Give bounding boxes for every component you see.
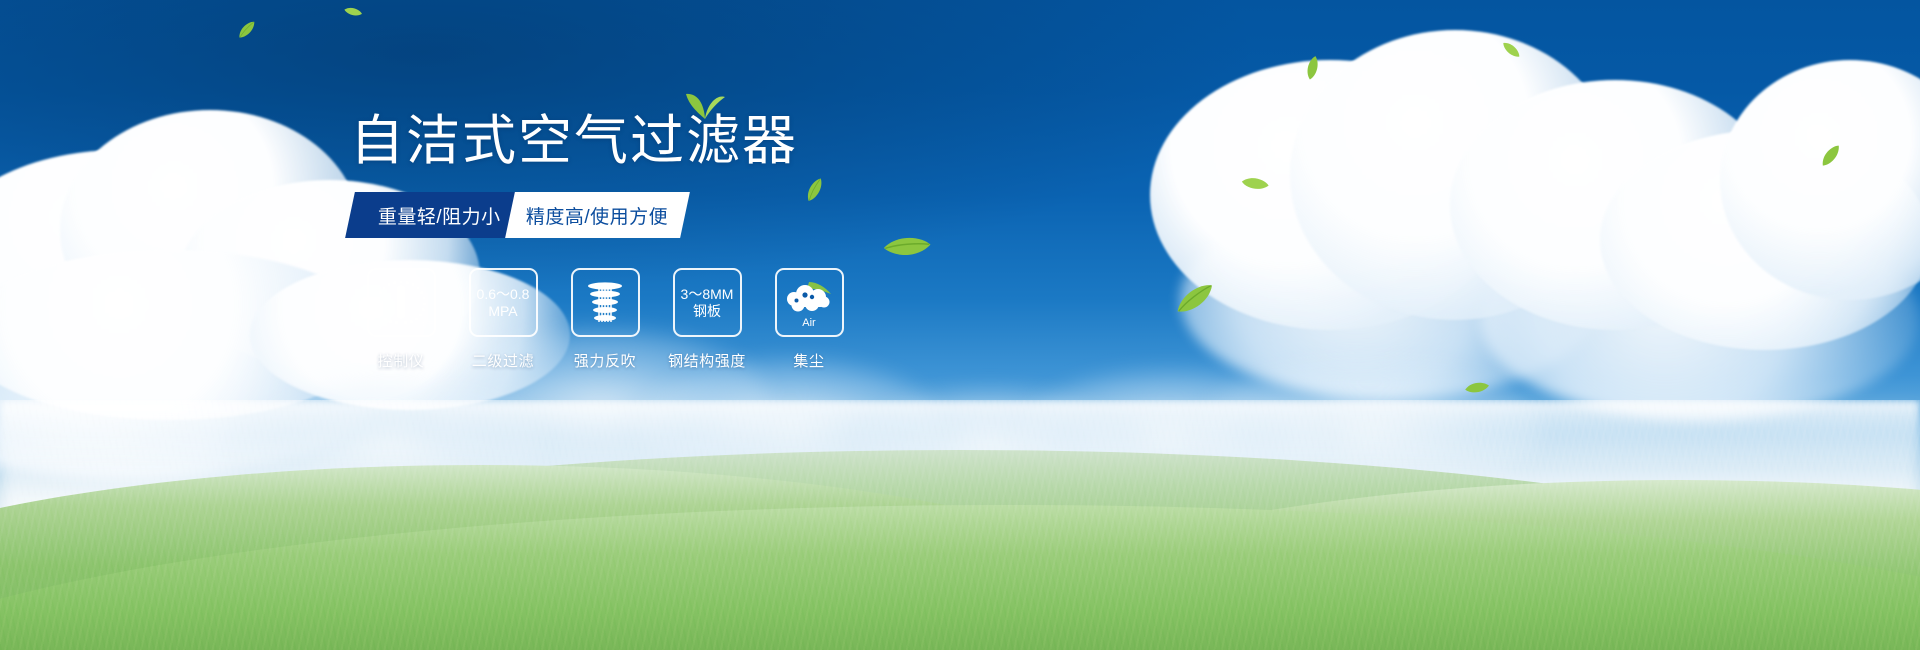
title-leaf-icon bbox=[683, 90, 727, 125]
dial-off-label: OFF bbox=[420, 322, 433, 328]
hero-banner: 自洁式空气过滤器 重量轻/阻力小 精度高/使用方便 bbox=[0, 0, 1920, 650]
feature-label: 二级过滤 bbox=[472, 350, 534, 371]
steel-plate-label: 钢板 bbox=[693, 303, 721, 320]
feature-icon-box bbox=[571, 268, 640, 337]
grass-ground bbox=[0, 400, 1920, 650]
banner-content: 自洁式空气过滤器 重量轻/阻力小 精度高/使用方便 bbox=[350, 112, 970, 371]
steel-thickness-value: 3〜8MM bbox=[681, 286, 734, 303]
feature-icon-box: NO OFF bbox=[367, 268, 436, 337]
blowback-coil-icon bbox=[581, 278, 629, 328]
tab-lightweight-low-resistance[interactable]: 重量轻/阻力小 bbox=[345, 192, 533, 238]
air-label: Air bbox=[802, 317, 815, 330]
feature-item[interactable]: NO OFF 控制仪 bbox=[350, 268, 452, 371]
feature-label: 集尘 bbox=[793, 350, 824, 371]
feature-icon-row: NO OFF 控制仪 0.6〜0.8 MPA 二级过滤 bbox=[350, 268, 970, 371]
feature-item[interactable]: 3〜8MM 钢板 钢结构强度 bbox=[656, 268, 758, 371]
power-dial-icon: NO OFF bbox=[373, 277, 429, 329]
feature-item[interactable]: 强力反吹 bbox=[554, 268, 656, 371]
feature-label: 控制仪 bbox=[378, 350, 425, 371]
feature-tabs: 重量轻/阻力小 精度高/使用方便 bbox=[350, 192, 675, 238]
feature-icon-box: Air bbox=[775, 268, 844, 337]
feature-item[interactable]: 0.6〜0.8 MPA 二级过滤 bbox=[452, 268, 554, 371]
page-title: 自洁式空气过滤器 bbox=[350, 112, 970, 170]
air-cloud-icon bbox=[781, 278, 837, 318]
tab-high-precision-easy-use[interactable]: 精度高/使用方便 bbox=[505, 192, 690, 238]
pressure-range-value: 0.6〜0.8 bbox=[477, 286, 530, 303]
tab-label: 重量轻/阻力小 bbox=[378, 202, 501, 229]
feature-icon-box: 3〜8MM 钢板 bbox=[673, 268, 742, 337]
power-dial-indicator bbox=[397, 285, 406, 319]
feature-label: 钢结构强度 bbox=[668, 350, 746, 371]
grass-texture bbox=[0, 400, 1920, 650]
tab-label: 精度高/使用方便 bbox=[526, 202, 668, 229]
dial-no-label: NO bbox=[367, 304, 377, 310]
feature-icon-box: 0.6〜0.8 MPA bbox=[469, 268, 538, 337]
feature-item[interactable]: Air 集尘 bbox=[758, 268, 860, 371]
pressure-unit-value: MPA bbox=[488, 303, 517, 320]
feature-label: 强力反吹 bbox=[574, 350, 636, 371]
